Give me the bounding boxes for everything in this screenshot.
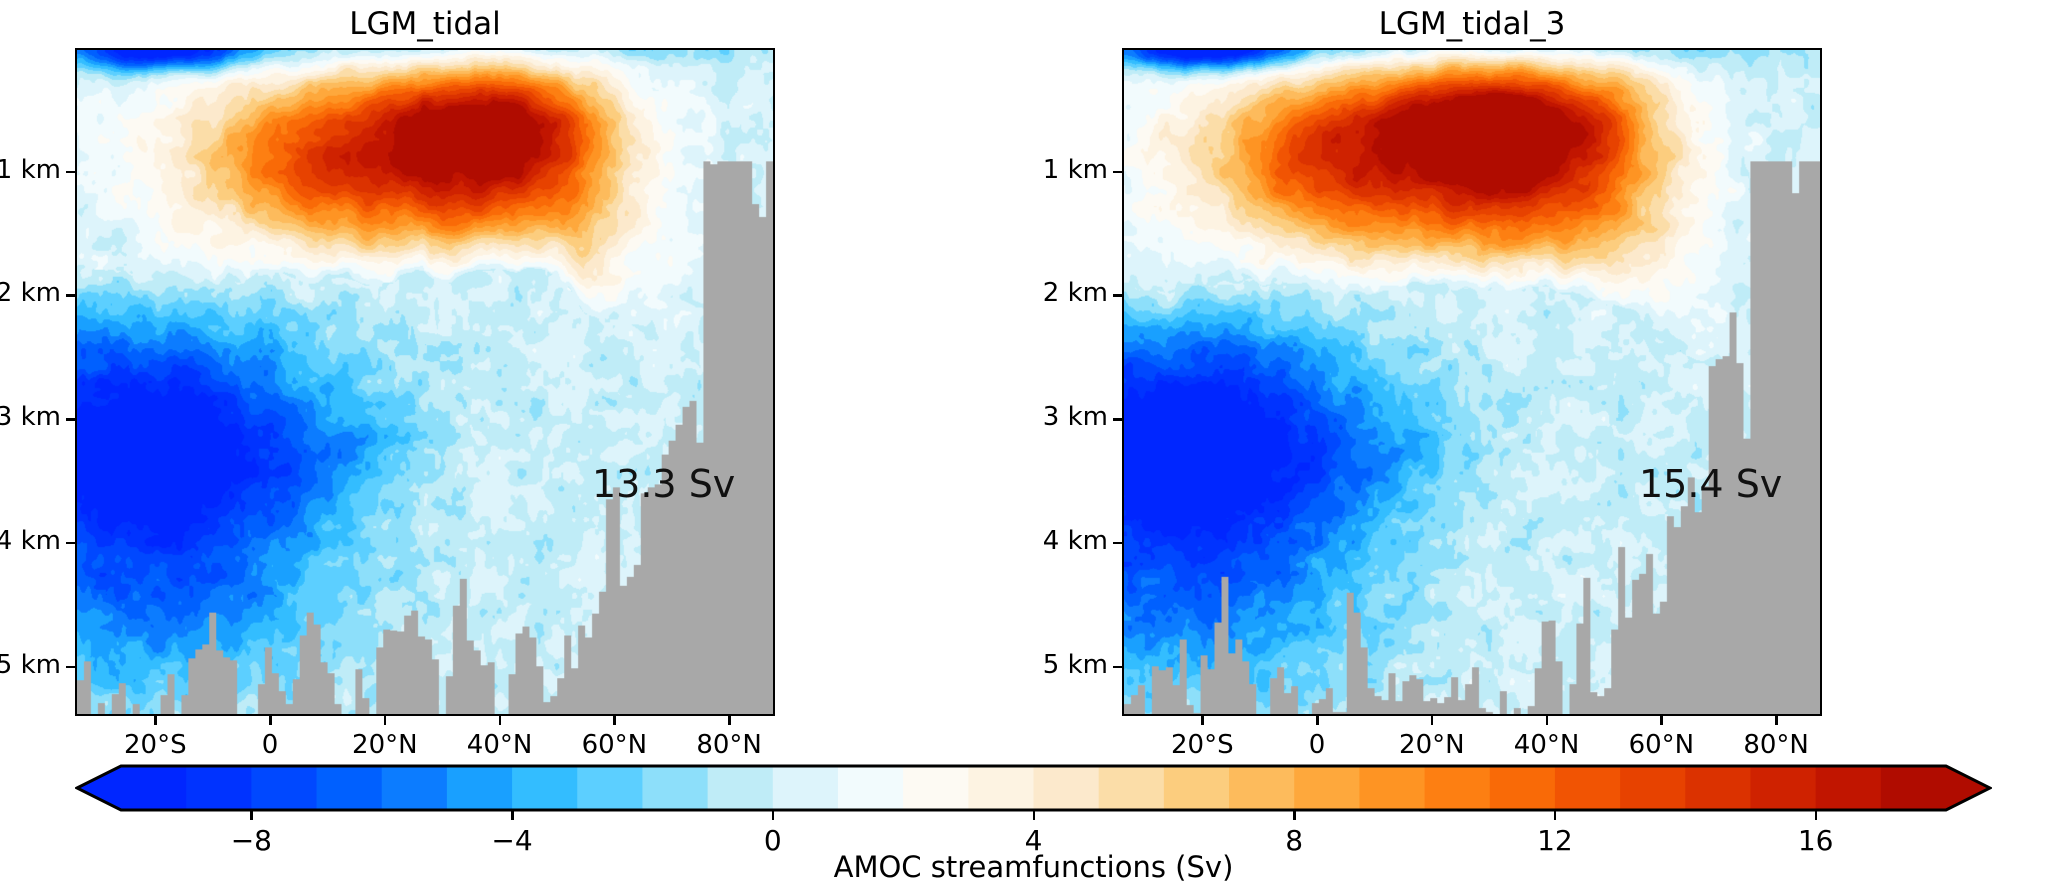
colorbar-band [121,766,187,810]
colorbar-band [1816,766,1882,810]
plot-axes-lgm-tidal[interactable] [75,48,775,716]
colorbar-band [1881,766,1947,810]
colorbar-band [1685,766,1751,810]
x-tick-mark [384,716,387,725]
x-tick-mark [499,716,502,725]
y-tick-mark [66,171,75,174]
figure-root: LGM_tidal 13.3 Sv LGM_tidal_3 15.4 Sv 1 … [0,0,2067,894]
colorbar-band [838,766,904,810]
colorbar-tick-mark [250,810,253,820]
colorbar-title: AMOC streamfunctions (Sv) [0,850,2067,884]
y-tick-mark [1113,418,1122,421]
colorbar-band [382,766,448,810]
x-tick-mark [1660,716,1663,725]
y-tick-label: 4 km [982,526,1108,556]
y-tick-mark [1113,666,1122,669]
colorbar-band [1359,766,1425,810]
y-tick-mark [66,666,75,669]
colorbar-band [903,766,969,810]
sv-annotation-2: 15.4 Sv [1639,462,1782,506]
colorbar-band [186,766,252,810]
y-tick-label: 1 km [982,155,1108,185]
x-tick-label: 80°N [1686,730,1866,760]
colorbar-band [577,766,643,810]
y-tick-mark [1113,171,1122,174]
colorbar-band [1750,766,1816,810]
x-tick-mark [1775,716,1778,725]
colorbar-band [1099,766,1165,810]
colorbar-band [1490,766,1556,810]
colorbar-tick-mark [1815,810,1818,820]
x-tick-mark [728,716,731,725]
x-tick-mark [1316,716,1319,725]
y-tick-mark [66,294,75,297]
y-tick-label: 5 km [0,650,61,680]
y-tick-label: 5 km [982,650,1108,680]
colorbar-band [1555,766,1621,810]
sv-annotation-1: 13.3 Sv [592,462,735,506]
x-tick-label: 80°N [639,730,819,760]
y-tick-mark [1113,294,1122,297]
colorbar-extend-max [1946,766,1990,810]
colorbar-gradient [75,764,1992,812]
colorbar-band [708,766,774,810]
x-tick-mark [154,716,157,725]
panel-title-2: LGM_tidal_3 [1122,6,1822,42]
colorbar-band [1425,766,1491,810]
plot-axes-lgm-tidal-3[interactable] [1122,48,1822,716]
y-tick-label: 2 km [982,278,1108,308]
colorbar-tick-mark [1293,810,1296,820]
contour-field-lgm-tidal [77,50,773,714]
colorbar-band [773,766,839,810]
colorbar-band [512,766,578,810]
x-tick-mark [1546,716,1549,725]
colorbar-band [1034,766,1100,810]
y-tick-label: 4 km [0,526,61,556]
colorbar-tick-mark [1554,810,1557,820]
x-tick-mark [269,716,272,725]
colorbar[interactable] [75,764,1992,812]
colorbar-tick-mark [511,810,514,820]
x-tick-mark [1431,716,1434,725]
y-tick-mark [66,418,75,421]
colorbar-band [251,766,317,810]
colorbar-tick-mark [772,810,775,820]
y-tick-mark [1113,542,1122,545]
colorbar-band [968,766,1034,810]
colorbar-band [1620,766,1686,810]
colorbar-band [1164,766,1230,810]
colorbar-extend-min [77,766,121,810]
panel-title-1: LGM_tidal [75,6,775,42]
colorbar-band [317,766,383,810]
colorbar-band [447,766,513,810]
y-tick-label: 3 km [0,402,61,432]
y-tick-label: 2 km [0,278,61,308]
y-tick-label: 1 km [0,155,61,185]
colorbar-band [1294,766,1360,810]
x-tick-mark [613,716,616,725]
y-tick-label: 3 km [982,402,1108,432]
colorbar-band [642,766,708,810]
colorbar-tick-mark [1033,810,1036,820]
contour-field-lgm-tidal-3 [1124,50,1820,714]
y-tick-mark [66,542,75,545]
x-tick-mark [1201,716,1204,725]
colorbar-band [1229,766,1295,810]
